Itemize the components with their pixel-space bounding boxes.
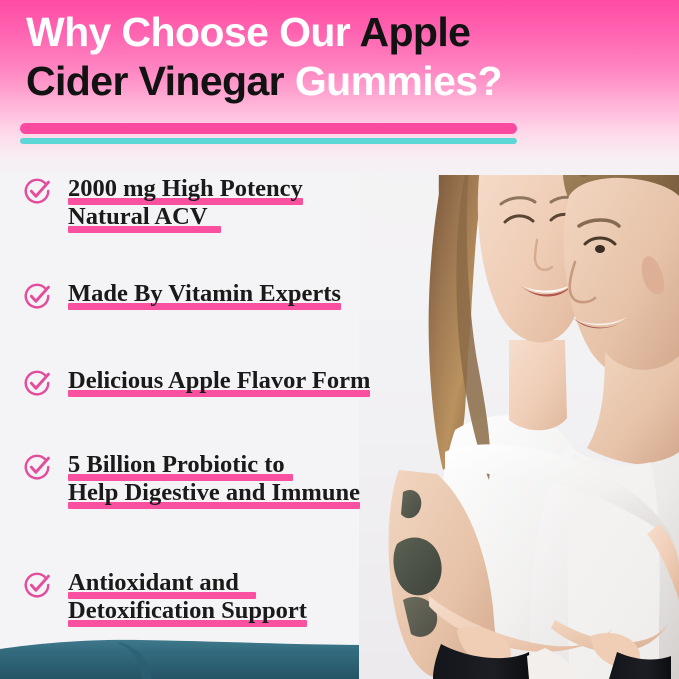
benefit-line: Made By Vitamin Experts: [68, 281, 341, 309]
benefit-line: Detoxification Support: [68, 598, 307, 626]
headline-line-2: Cider Vinegar Gummies?: [26, 61, 502, 102]
page-title: Why Choose Our Apple Cider Vinegar Gummi…: [26, 12, 502, 110]
benefit-text: 5 Billion Probiotic to Help Digestive an…: [68, 452, 360, 508]
accent-rules: [20, 123, 517, 144]
teal-accent-bar: [20, 138, 517, 144]
benefit-line: Antioxidant and: [68, 570, 239, 598]
check-circle-icon: [22, 281, 52, 311]
headline-line-1-dark: Apple: [359, 9, 470, 55]
benefit-text: Antioxidant and Detoxification Support: [68, 570, 307, 626]
check-circle-icon: [22, 176, 52, 206]
benefit-item-5[interactable]: Antioxidant and Detoxification Support: [22, 570, 307, 626]
product-feature-poster: Why Choose Our Apple Cider Vinegar Gummi…: [0, 0, 679, 679]
benefit-line: 5 Billion Probiotic to: [68, 452, 285, 480]
benefit-line: 2000 mg High Potency: [68, 176, 303, 204]
benefit-line: Delicious Apple Flavor Form: [68, 368, 370, 396]
headline-line-1-white: Why Choose Our: [26, 9, 359, 55]
headline-line-2-dark: Cider Vinegar: [26, 58, 295, 104]
check-circle-icon: [22, 570, 52, 600]
headline-line-2-white: Gummies?: [295, 58, 502, 104]
check-circle-icon: [22, 452, 52, 482]
benefit-text: 2000 mg High Potency Natural ACV: [68, 176, 303, 232]
benefit-text: Made By Vitamin Experts: [68, 281, 341, 309]
benefit-line: Natural ACV: [68, 204, 208, 232]
pink-accent-bar: [20, 123, 517, 134]
check-circle-icon: [22, 368, 52, 398]
benefit-item-3[interactable]: Delicious Apple Flavor Form: [22, 368, 370, 398]
benefit-line: Help Digestive and Immune: [68, 480, 360, 508]
benefit-text: Delicious Apple Flavor Form: [68, 368, 370, 396]
benefit-item-1[interactable]: 2000 mg High Potency Natural ACV: [22, 176, 303, 232]
benefit-item-2[interactable]: Made By Vitamin Experts: [22, 281, 341, 311]
headline-line-1: Why Choose Our Apple: [26, 12, 502, 53]
benefit-item-4[interactable]: 5 Billion Probiotic to Help Digestive an…: [22, 452, 360, 508]
